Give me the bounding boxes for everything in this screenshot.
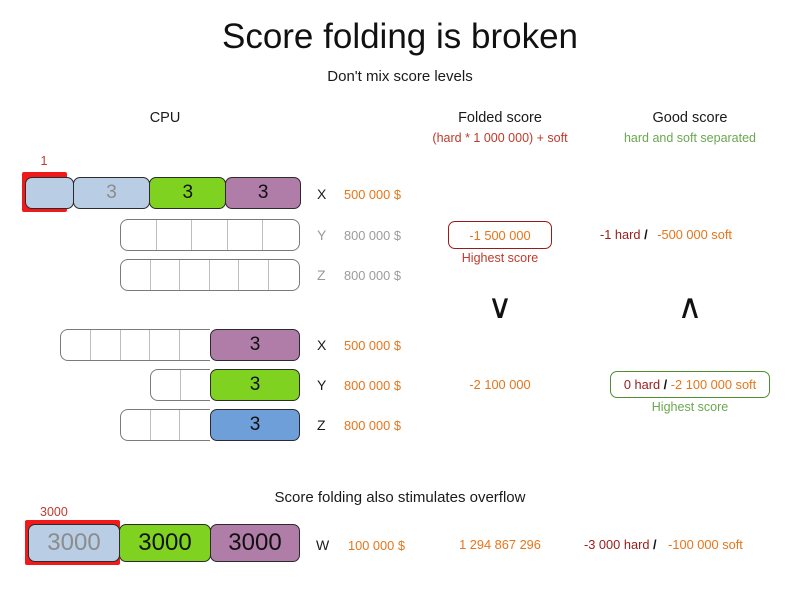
column-header-folded-score: Folded score [400,110,600,126]
group2-good-score-box: 0 hard / -2 100 000 soft [610,371,770,398]
page-title: Score folding is broken [0,17,800,57]
group1-folded-score-box: -1 500 000 [448,221,552,249]
group2-bar-segment-blue: 3 [210,409,300,441]
group3-row-label-w: W [316,537,329,553]
group2-row-cost-x: 500 000 $ [344,338,401,353]
bar-cell [269,260,299,290]
bar-cell [61,330,91,360]
group2-bar-z[interactable]: 3 [120,409,300,441]
bar-cell [263,220,299,250]
group1-bar-x[interactable]: 3 3 3 [25,177,300,209]
group1-row-label-x: X [317,186,326,202]
group2-bar-z-empty [120,409,210,441]
group2-bar-y-empty [150,369,210,401]
group1-good-hard: -1 hard [600,227,641,242]
bar-cell [121,410,151,440]
slide-canvas: Score folding is broken Don't mix score … [0,0,800,600]
bar-cell [239,260,269,290]
group1-bar-z[interactable] [120,259,300,291]
group1-folded-score-value: -1 500 000 [469,228,530,243]
group3-good-soft: -100 000 soft [668,537,743,552]
group1-red-marker-label: 1 [22,154,66,168]
bar-segment-green: 3 [149,177,226,209]
group2-good-hard: 0 hard [624,377,660,392]
group3-good-hard: -3 000 hard [584,537,649,552]
group3-red-marker-label: 3000 [40,505,110,519]
group1-bar-y[interactable] [120,219,300,251]
bar-segment-lightblue: 3 [73,177,150,209]
bar-cell [151,410,181,440]
group1-good-soft: -500 000 soft [657,227,732,242]
bar-segment-purple: 3 [225,177,301,209]
group2-bar-segment-purple: 3 [210,329,300,361]
bar-cell [192,220,228,250]
group3-bar-segment-green: 3000 [119,524,211,562]
bar-cell [121,220,157,250]
group2-row-cost-y: 800 000 $ [344,378,401,393]
group2-good-score: 0 hard / -2 100 000 soft [624,377,756,392]
group1-row-cost-x: 500 000 $ [344,187,401,202]
group1-folded-highest-caption: Highest score [440,251,560,265]
bar-cell [151,260,181,290]
group1-good-separator: / [644,227,648,242]
bar-segment-first-blue [25,177,74,209]
bar-cell [150,330,180,360]
group2-bar-x[interactable]: 3 [60,329,300,361]
group3-folded-score-value: 1 294 867 296 [440,537,560,552]
bar-cell [228,220,264,250]
column-subheader-good-formula: hard and soft separated [590,131,790,145]
group1-row-label-y: Y [317,227,326,243]
group1-row-label-z: Z [317,267,326,283]
page-subtitle: Don't mix score levels [0,68,800,85]
bar-cell [180,410,210,440]
group2-bar-x-empty [60,329,210,361]
bar-cell [121,330,151,360]
column-header-good-score: Good score [590,110,790,126]
bar-cell [151,370,181,400]
good-comparison-chevron-up-icon: ∧ [640,290,740,324]
group3-bar-segment-purple: 3000 [210,524,300,562]
group2-bar-y[interactable]: 3 [150,369,300,401]
group1-row-cost-z: 800 000 $ [344,268,401,283]
group3-good-separator: / [653,537,657,552]
column-subheader-folded-formula: (hard * 1 000 000) + soft [400,131,600,145]
folded-comparison-chevron-down-icon: ∨ [450,290,550,324]
group2-bar-segment-green: 3 [210,369,300,401]
group3-row-cost-w: 100 000 $ [348,538,405,553]
bar-cell [180,260,210,290]
group3-bar-segment-lightblue: 3000 [28,524,120,562]
group1-good-score: -1 hard / -500 000 soft [600,227,780,242]
group2-good-highest-caption: Highest score [610,400,770,414]
bar-cell [210,260,240,290]
column-header-cpu: CPU [105,110,225,126]
bar-cell [157,220,193,250]
group2-row-label-x: X [317,337,326,353]
group2-folded-score-value: -2 100 000 [440,377,560,392]
bar-cell [91,330,121,360]
group1-row-cost-y: 800 000 $ [344,228,401,243]
bar-cell [121,260,151,290]
bar-cell [180,330,210,360]
group2-row-label-y: Y [317,377,326,393]
group2-good-separator: / [664,377,668,392]
overflow-section-title: Score folding also stimulates overflow [0,489,800,506]
group2-row-label-z: Z [317,417,326,433]
group2-row-cost-z: 800 000 $ [344,418,401,433]
group3-good-score: -3 000 hard / -100 000 soft [584,537,784,552]
bar-cell [181,370,211,400]
group2-good-soft: -2 100 000 soft [671,377,756,392]
group3-bar-w[interactable]: 3000 3000 3000 [28,524,300,562]
